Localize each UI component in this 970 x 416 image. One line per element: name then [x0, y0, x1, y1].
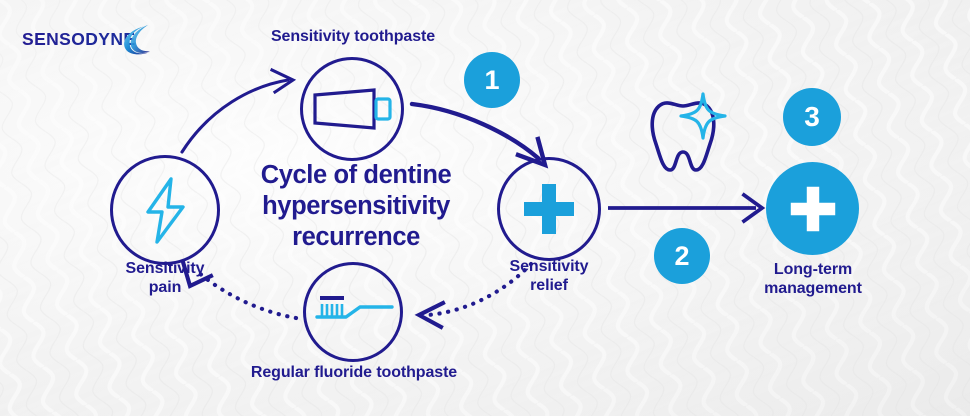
step-badge-2[interactable]: 2	[654, 228, 710, 284]
sparkling-tooth-icon	[637, 84, 733, 180]
node-long-term-management[interactable]	[766, 162, 859, 255]
arrow-toothpaste-to-relief	[412, 104, 545, 165]
label-long-term-management: Long-term management	[742, 261, 884, 299]
step-badge-1-number: 1	[484, 65, 499, 96]
step-badge-2-number: 2	[674, 241, 689, 272]
step-badge-1[interactable]: 1	[464, 52, 520, 108]
page-title: Cycle of dentine hypersensitivity recurr…	[228, 160, 484, 253]
label-sensitivity-toothpaste: Sensitivity toothpaste	[247, 28, 459, 47]
label-sensitivity-relief: Sensitivity relief	[474, 258, 624, 296]
toothpaste-tube-icon	[312, 86, 396, 132]
label-regular-fluoride-toothpaste: Regular fluoride toothpaste	[223, 364, 485, 383]
step-badge-3-number: 3	[804, 101, 820, 133]
plus-cross-icon	[789, 185, 837, 233]
label-sensitivity-pain: Sensitivity pain	[85, 260, 245, 298]
arrow-relief-to-management	[608, 195, 762, 221]
lightning-bolt-icon	[138, 176, 194, 246]
step-badge-3[interactable]: 3	[783, 88, 841, 146]
plus-cross-icon	[522, 182, 576, 236]
toothbrush-icon	[312, 292, 398, 332]
arrow-pain-to-toothpaste	[182, 70, 293, 152]
infographic-canvas: SENSODYNE	[0, 0, 970, 416]
